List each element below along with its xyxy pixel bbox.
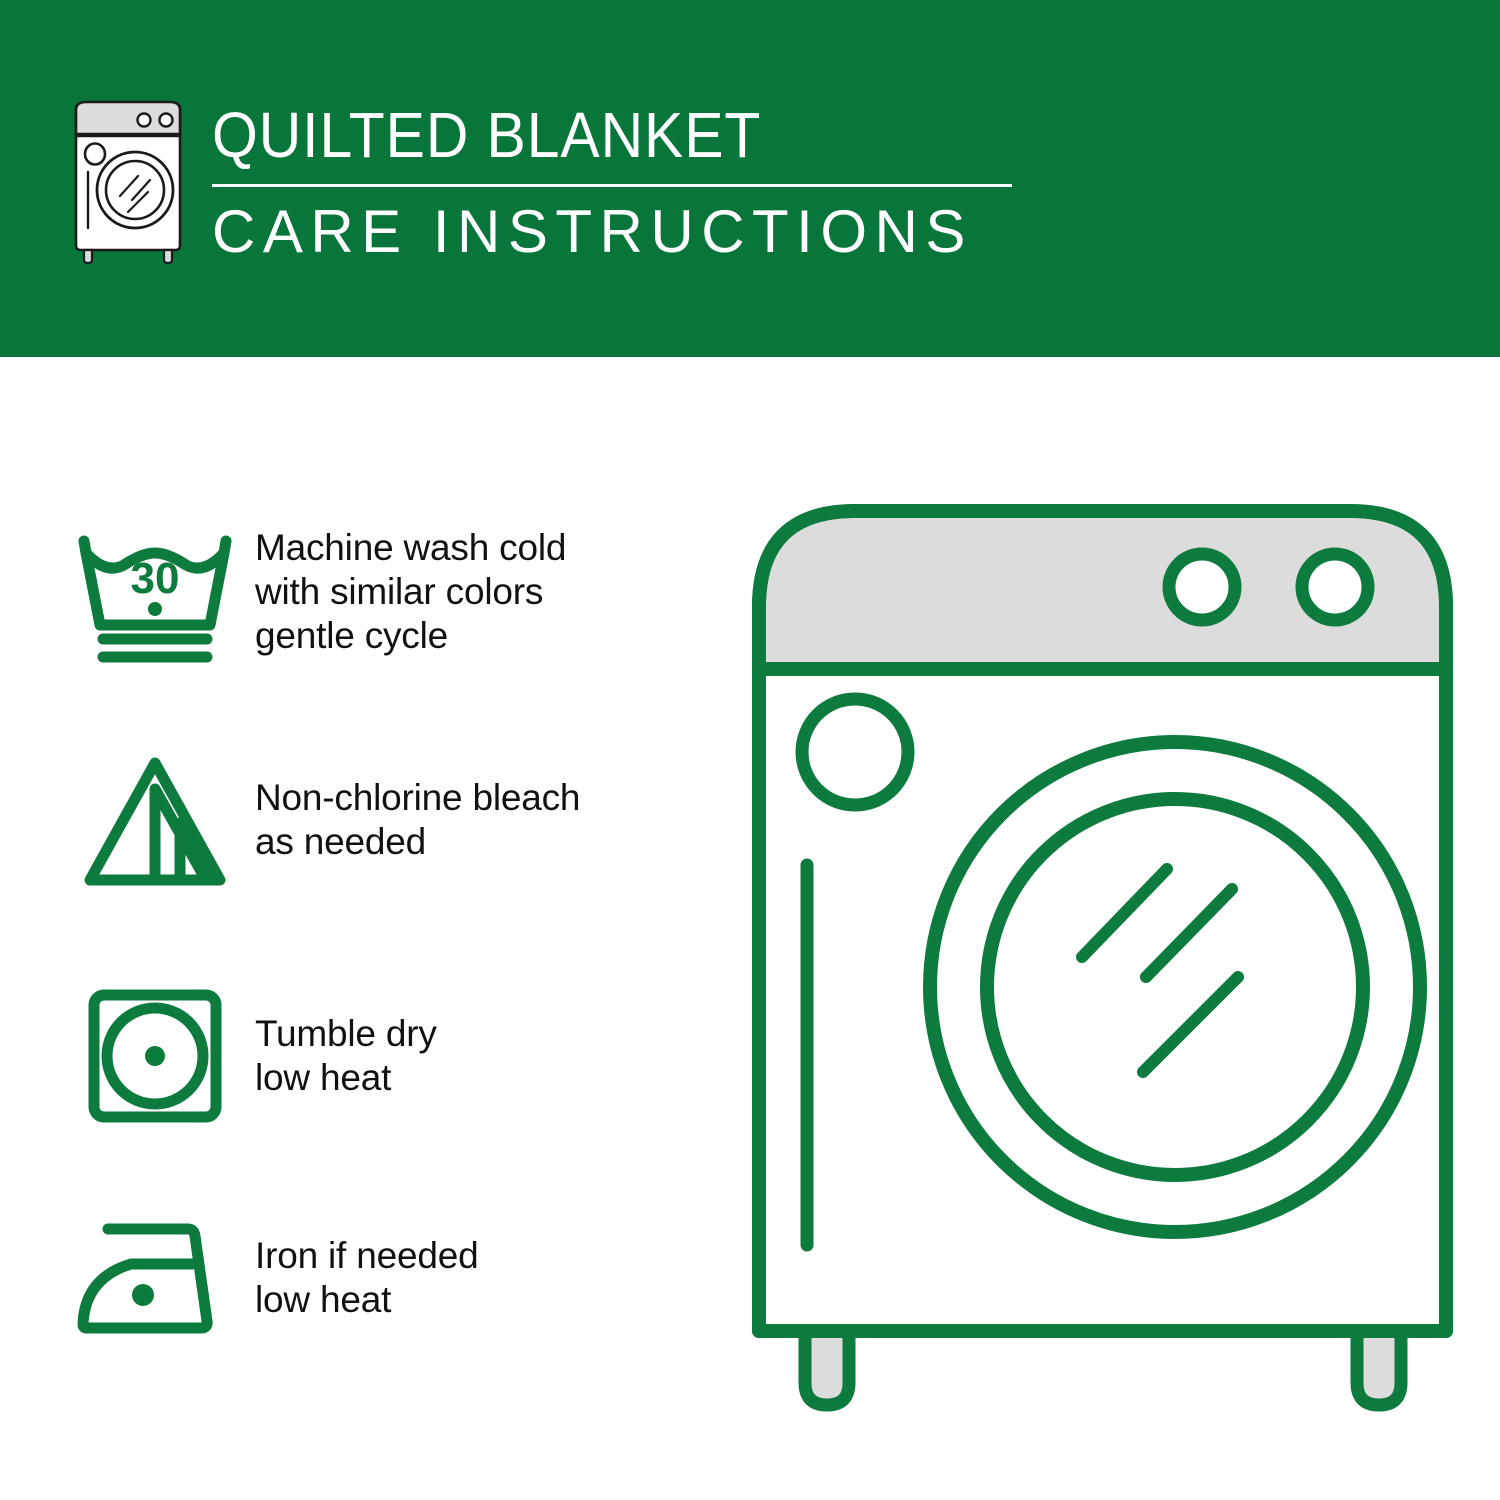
care-text-line-2: as needed	[255, 820, 580, 864]
wash-temp-value: 30	[131, 554, 180, 603]
main-content: 30 Machine wash cold with similar colors…	[0, 357, 1500, 1500]
care-text-line-3: gentle cycle	[255, 614, 566, 658]
header-banner: QUILTED BLANKET CARE INSTRUCTIONS	[0, 0, 1500, 357]
list-item: 30 Machine wash cold with similar colors…	[70, 502, 710, 682]
detergent-dispenser	[802, 699, 908, 805]
leg-left	[805, 1331, 849, 1405]
care-text-line-2: low heat	[255, 1056, 437, 1100]
list-item-text: Tumble dry low heat	[255, 1012, 437, 1100]
page-title: QUILTED BLANKET	[212, 100, 948, 170]
iron-low-heat-icon	[70, 1203, 255, 1353]
washing-machine-icon	[62, 96, 194, 264]
care-text-line-1: Tumble dry	[255, 1012, 437, 1056]
wash-tub-30-gentle-icon: 30	[70, 517, 255, 667]
care-text-line-1: Iron if needed	[255, 1234, 478, 1278]
title-divider	[212, 184, 1012, 187]
care-text-line-1: Non-chlorine bleach	[255, 776, 580, 820]
door-inner-ring	[987, 799, 1363, 1175]
knob-left	[1169, 554, 1235, 620]
care-text-line-2: with similar colors	[255, 570, 566, 614]
knob-right	[1302, 554, 1368, 620]
list-item: Tumble dry low heat	[70, 966, 710, 1146]
page-subtitle: CARE INSTRUCTIONS	[212, 199, 1012, 265]
list-item-text: Non-chlorine bleach as needed	[255, 776, 580, 864]
care-text-line-1: Machine wash cold	[255, 526, 566, 570]
care-instructions-list: 30 Machine wash cold with similar colors…	[70, 502, 710, 1368]
list-item: Non-chlorine bleach as needed	[70, 730, 710, 910]
front-load-washing-machine-illustration	[745, 497, 1460, 1427]
list-item-text: Machine wash cold with similar colors ge…	[255, 526, 566, 658]
list-item-text: Iron if needed low heat	[255, 1234, 478, 1322]
care-text-line-2: low heat	[255, 1278, 478, 1322]
list-item: Iron if needed low heat	[70, 1188, 710, 1368]
leg-right	[1357, 1331, 1401, 1405]
header-titles: QUILTED BLANKET CARE INSTRUCTIONS	[212, 96, 1012, 265]
tumble-dry-low-icon	[70, 981, 255, 1131]
non-chlorine-bleach-triangle-icon	[70, 745, 255, 895]
header-content: QUILTED BLANKET CARE INSTRUCTIONS	[62, 96, 1012, 265]
